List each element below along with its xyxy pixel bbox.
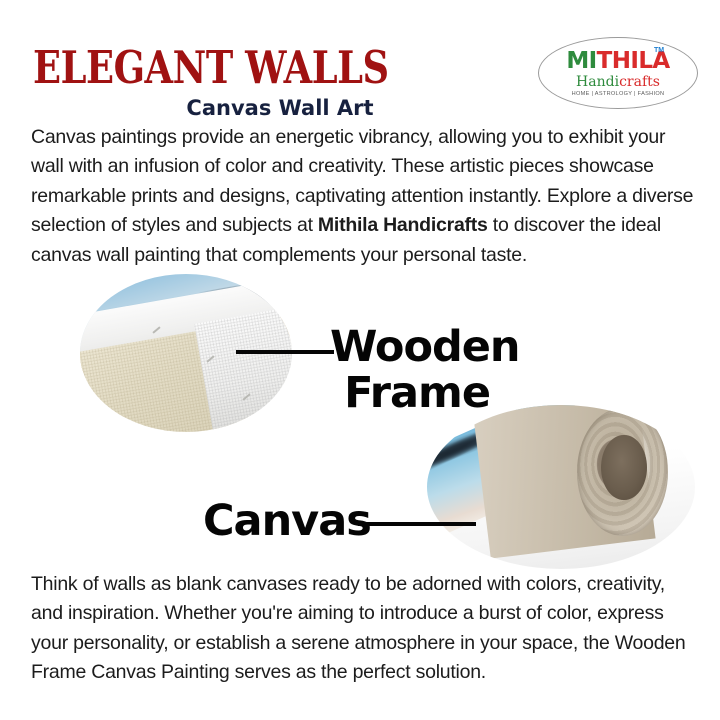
- brand-title: ELEGANT WALLS: [33, 44, 389, 93]
- logo-subtitle-red: crafts: [619, 74, 660, 90]
- leader-line-wooden-frame: [236, 350, 334, 354]
- brand-mention-bold: Mithila Handicrafts: [318, 214, 488, 236]
- trademark-icon: TM: [654, 47, 664, 54]
- logo-subtitle: Handicrafts: [539, 75, 697, 90]
- logo-wordmark-green: MI: [566, 48, 596, 74]
- logo-subtitle-green: Handi: [576, 74, 619, 90]
- canvas-roll-photo: [427, 405, 695, 569]
- intro-paragraph: Canvas paintings provide an energetic vi…: [31, 123, 695, 270]
- roll-core-hole: [601, 435, 647, 501]
- callout-label-wooden-frame: Wooden Frame: [330, 324, 490, 416]
- logo-wordmark: MITHILA: [539, 50, 697, 73]
- closing-paragraph: Think of walls as blank canvases ready t…: [31, 570, 695, 688]
- section-heading: Canvas Wall Art: [0, 96, 720, 120]
- leader-line-canvas: [358, 522, 476, 526]
- callout-label-canvas: Canvas: [203, 498, 371, 544]
- header: ELEGANT WALLS MITHILA Handicrafts HOME |…: [0, 0, 720, 120]
